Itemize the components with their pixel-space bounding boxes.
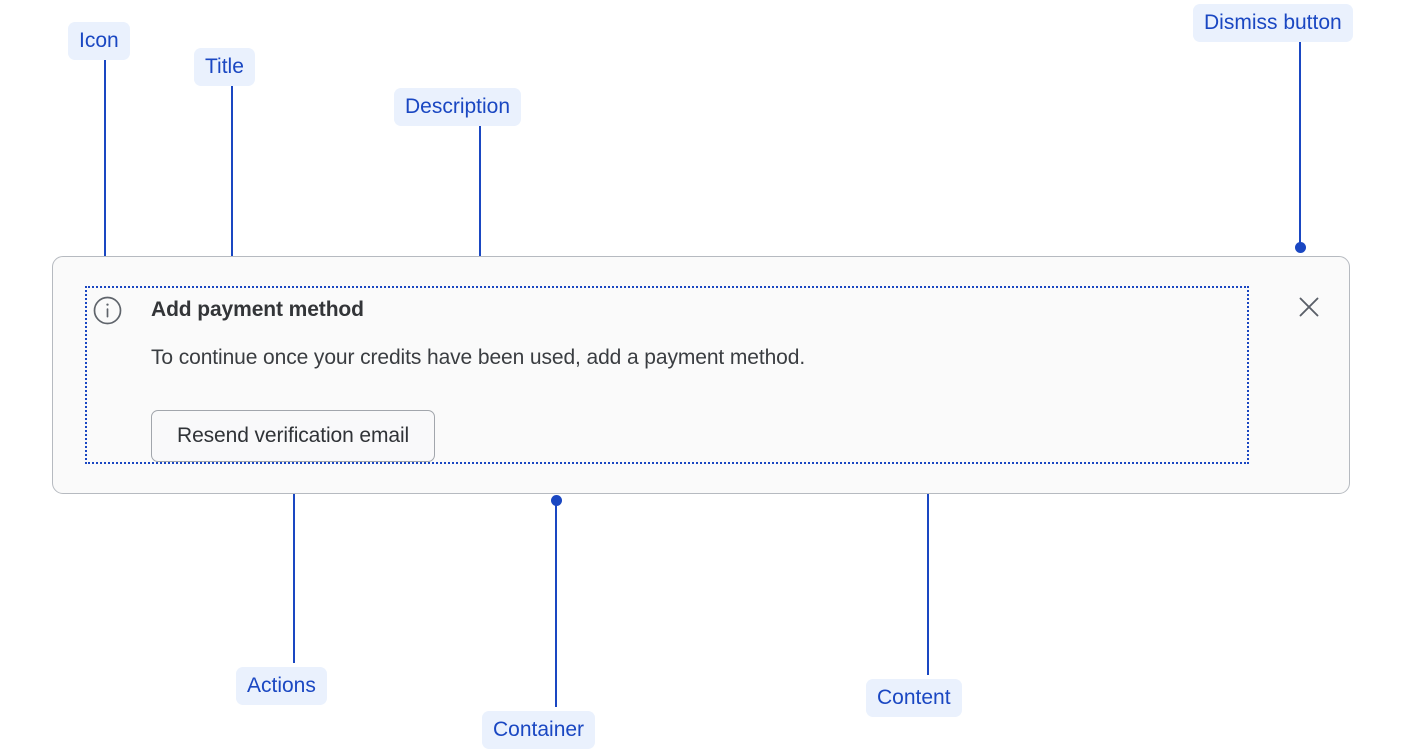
alert-title: Add payment method xyxy=(151,295,364,325)
close-icon xyxy=(1295,293,1323,321)
annotation-label-title: Title xyxy=(194,48,255,86)
annotation-leader-line-container xyxy=(555,503,557,707)
annotation-leader-line-content xyxy=(927,469,929,675)
alert-container: Add payment method To continue once your… xyxy=(52,256,1350,494)
dismiss-button[interactable] xyxy=(1295,293,1323,321)
resend-verification-email-button[interactable]: Resend verification email xyxy=(151,410,435,462)
annotation-label-container: Container xyxy=(482,711,595,749)
alert-description: To continue once your credits have been … xyxy=(151,343,805,373)
annotation-label-actions: Actions xyxy=(236,667,327,705)
annotation-leader-line-icon xyxy=(104,60,106,272)
alert-actions: Resend verification email xyxy=(151,410,435,462)
annotation-leader-line-title xyxy=(231,86,233,284)
annotation-label-description: Description xyxy=(394,88,521,126)
annotation-label-content: Content xyxy=(866,679,962,717)
annotation-leader-line-dismiss xyxy=(1299,42,1301,247)
info-circle-icon xyxy=(93,296,122,325)
alert-content: Add payment method To continue once your… xyxy=(85,286,1249,464)
annotation-dot-dismiss xyxy=(1295,242,1306,253)
annotation-label-icon: Icon xyxy=(68,22,130,60)
annotation-label-dismiss-button: Dismiss button xyxy=(1193,4,1353,42)
